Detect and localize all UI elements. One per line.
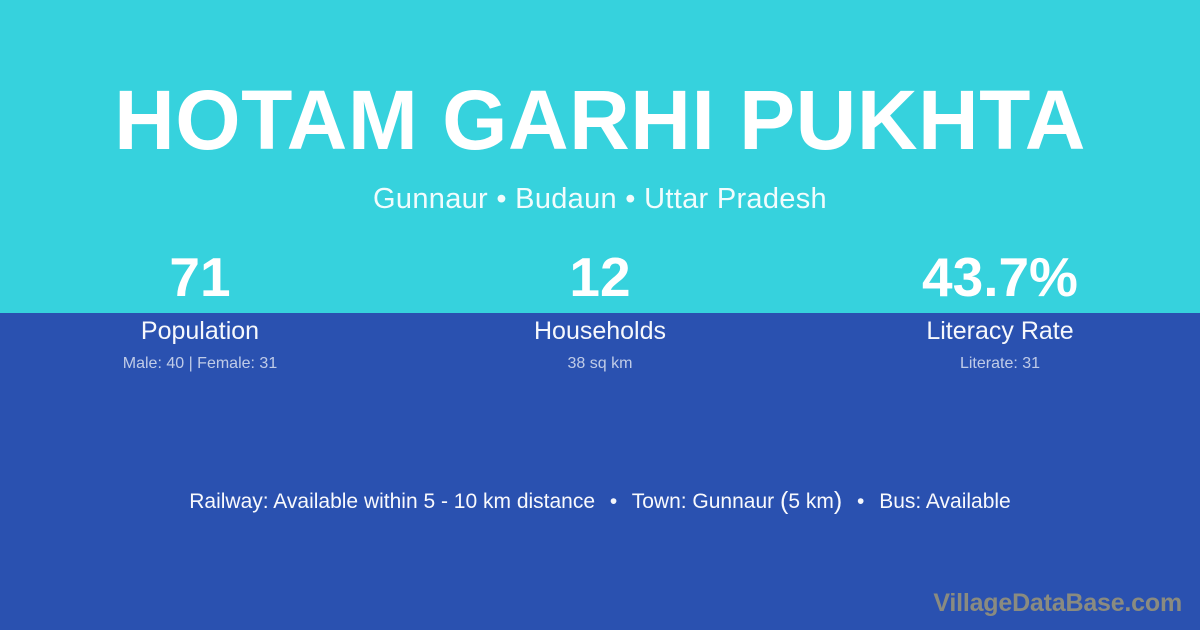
page-title: HOTAM GARHI PUKHTA	[0, 78, 1200, 162]
stat-label-literacy-rate: Literacy Rate	[800, 318, 1200, 345]
header: HOTAM GARHI PUKHTA Gunnaur • Budaun • Ut…	[0, 0, 1200, 216]
amenity-town-distance: 5 km	[788, 490, 834, 513]
stat-value-population: 71	[0, 248, 400, 306]
stat-card-households: 12 Households 38 sq km	[400, 248, 800, 373]
stat-card-population: 71 Population Male: 40 | Female: 31	[0, 248, 400, 373]
amenity-town-paren-close: )	[834, 487, 842, 515]
site-watermark: VillageDataBase.com	[933, 588, 1182, 618]
stat-detail-households: 38 sq km	[400, 355, 800, 373]
stat-detail-literacy-rate: Literate: 31	[800, 355, 1200, 373]
stat-card-literacy-rate: 43.7% Literacy Rate Literate: 31	[800, 248, 1200, 373]
amenities-line: Railway: Available within 5 - 10 km dist…	[0, 486, 1200, 517]
location-breadcrumb: Gunnaur • Budaun • Uttar Pradesh	[0, 183, 1200, 216]
amenity-railway: Railway: Available within 5 - 10 km dist…	[189, 490, 595, 513]
amenity-bus: Bus: Available	[879, 490, 1011, 513]
stats-row: 71 Population Male: 40 | Female: 31 12 H…	[0, 248, 1200, 373]
stat-value-literacy-rate: 43.7%	[800, 248, 1200, 306]
stat-label-population: Population	[0, 318, 400, 345]
stat-value-households: 12	[400, 248, 800, 306]
amenity-separator-icon: •	[601, 487, 626, 517]
stat-label-households: Households	[400, 318, 800, 345]
amenity-town: Town: Gunnaur	[632, 490, 780, 513]
amenity-separator-icon: •	[848, 487, 873, 517]
stat-detail-population: Male: 40 | Female: 31	[0, 355, 400, 373]
